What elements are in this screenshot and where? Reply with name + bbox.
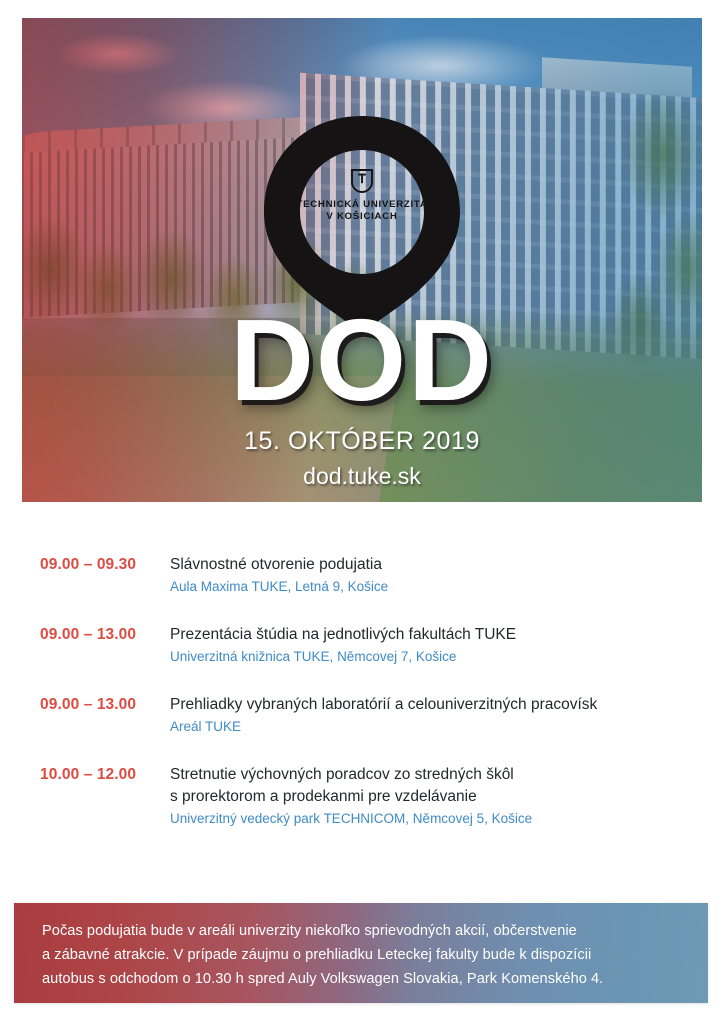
footer-notice-text: Počas podujatia bude v areáli univerzity…: [42, 919, 688, 991]
schedule-venue: Aula Maxima TUKE, Letná 9, Košice: [170, 576, 724, 597]
tuke-name-line-2: V KOŠICIACH: [262, 211, 462, 223]
dod-wordmark: DOD: [22, 302, 702, 418]
schedule-row: 10.00 – 12.00 Stretnutie výchovných pora…: [0, 764, 724, 829]
schedule-venue: Univerzitný vedecký park TECHNICOM, Němc…: [170, 808, 724, 829]
schedule-venue: Univerzitná knižnica TUKE, Němcovej 7, K…: [170, 646, 724, 667]
schedule-title: Slávnostné otvorenie podujatia: [170, 554, 724, 576]
schedule-time: 09.00 – 13.00: [40, 624, 164, 645]
schedule-list: 09.00 – 09.30 Slávnostné otvorenie poduj…: [0, 554, 724, 829]
footer-notice-banner: Počas podujatia bude v areáli univerzity…: [14, 903, 708, 1003]
schedule-time: 09.00 – 09.30: [40, 554, 164, 575]
tuke-logo: TECHNICKÁ UNIVERZITA V KOŠICIACH: [262, 168, 462, 223]
footer-line-2: a zábavné atrakcie. V prípade záujmu o p…: [42, 943, 688, 967]
schedule-row: 09.00 – 13.00 Prezentácia štúdia na jedn…: [0, 624, 724, 667]
schedule-row: 09.00 – 13.00 Prehliadky vybraných labor…: [0, 694, 724, 737]
tuke-name-line-1: TECHNICKÁ UNIVERZITA: [262, 199, 462, 211]
poster: TECHNICKÁ UNIVERZITA V KOŠICIACH DOD 15.…: [0, 0, 724, 1024]
footer-line-1: Počas podujatia bude v areáli univerzity…: [42, 919, 688, 943]
schedule-title-continued: s prorektorom a prodekanmi pre vzdelávan…: [170, 786, 724, 808]
schedule-body: Stretnutie výchovných poradcov zo stredn…: [164, 764, 724, 829]
event-date: 15. OKTÓBER 2019: [22, 427, 702, 455]
schedule-row: 09.00 – 09.30 Slávnostné otvorenie poduj…: [0, 554, 724, 597]
schedule-title: Prezentácia štúdia na jednotlivých fakul…: [170, 624, 724, 646]
schedule-body: Prezentácia štúdia na jednotlivých fakul…: [164, 624, 724, 667]
schedule-title: Prehliadky vybraných laboratórií a celou…: [170, 694, 724, 716]
schedule-body: Slávnostné otvorenie podujatia Aula Maxi…: [164, 554, 724, 597]
schedule-body: Prehliadky vybraných laboratórií a celou…: [164, 694, 724, 737]
schedule-time: 09.00 – 13.00: [40, 694, 164, 715]
schedule-title: Stretnutie výchovných poradcov zo stredn…: [170, 764, 724, 786]
tuke-shield-icon: [349, 168, 375, 194]
schedule-venue: Areál TUKE: [170, 716, 724, 737]
footer-line-3: autobus s odchodom o 10.30 h spred Auly …: [42, 967, 688, 991]
event-url[interactable]: dod.tuke.sk: [22, 463, 702, 489]
schedule-time: 10.00 – 12.00: [40, 764, 164, 785]
hero-banner: TECHNICKÁ UNIVERZITA V KOŠICIACH DOD 15.…: [22, 18, 702, 502]
